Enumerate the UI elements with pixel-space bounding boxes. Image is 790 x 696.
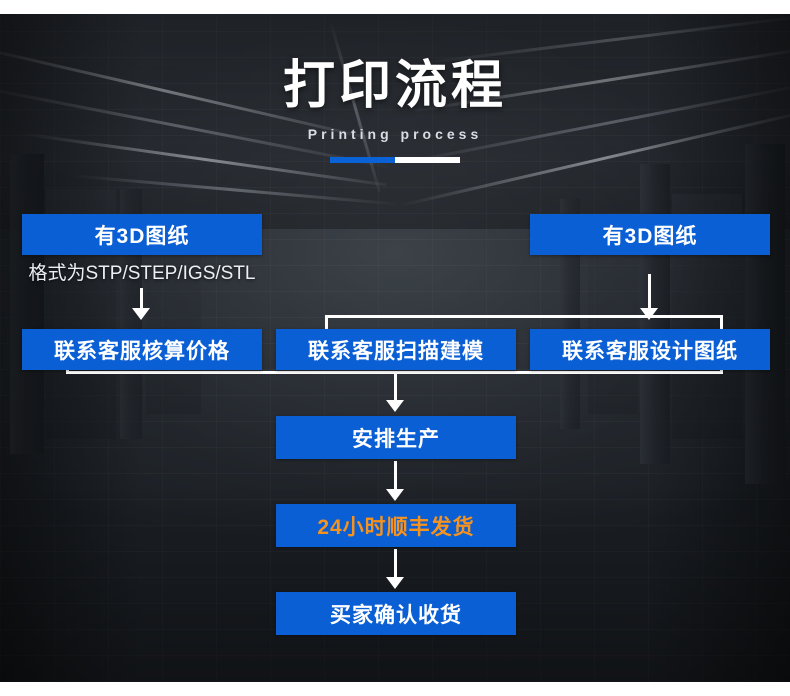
divider-segment-blue xyxy=(330,157,395,163)
bottom-white-strip xyxy=(0,682,790,696)
flow-box-buyer-confirm[interactable]: 买家确认收货 xyxy=(276,592,516,635)
flow-box-row1-right[interactable]: 有3D图纸 xyxy=(530,214,770,255)
arrow-head-icon xyxy=(132,308,150,320)
arrow-head-icon xyxy=(386,577,404,589)
divider-segment-white xyxy=(395,157,460,163)
page-title: 打印流程 xyxy=(0,55,790,117)
flow-box-shipping[interactable]: 24小时顺丰发货 xyxy=(276,504,516,547)
bracket-top-right-stub xyxy=(720,315,723,329)
arrow-head-icon xyxy=(386,400,404,412)
flow-box-row2-left[interactable]: 联系客服核算价格 xyxy=(22,329,262,370)
bracket-top-left-stub xyxy=(325,315,328,329)
top-white-strip xyxy=(0,0,790,14)
title-divider xyxy=(330,157,460,163)
page-header: 打印流程 Printing process xyxy=(0,55,790,163)
page-subtitle: Printing process xyxy=(0,125,790,143)
connector-line xyxy=(140,288,143,310)
arrow-head-icon xyxy=(386,489,404,501)
flow-note-format: 格式为STP/STEP/IGS/STL xyxy=(12,258,272,285)
flow-box-row2-middle[interactable]: 联系客服扫描建模 xyxy=(276,329,516,370)
flow-box-row1-left[interactable]: 有3D图纸 xyxy=(22,214,262,255)
flowchart-poster: 打印流程 Printing process 有3D图纸 格式为STP/STEP/… xyxy=(0,0,790,696)
flow-box-production[interactable]: 安排生产 xyxy=(276,416,516,459)
flow-box-row2-right[interactable]: 联系客服设计图纸 xyxy=(530,329,770,370)
arrow-head-icon xyxy=(640,308,658,320)
bracket-top-horizontal xyxy=(325,315,723,318)
connector-line xyxy=(394,549,397,579)
connector-line xyxy=(394,371,397,403)
connector-line xyxy=(648,274,651,310)
connector-line xyxy=(394,461,397,491)
